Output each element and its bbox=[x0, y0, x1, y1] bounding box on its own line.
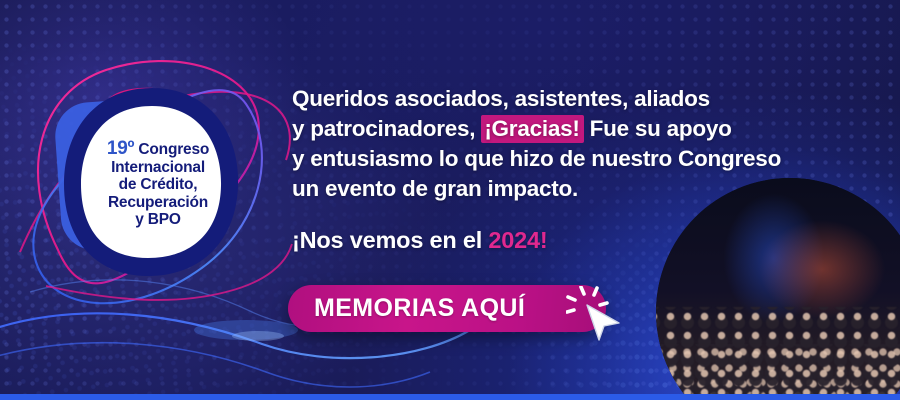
logo-text-block: 19º Congreso Internacional de Crédito, R… bbox=[92, 140, 224, 229]
message-line-2-before: y patrocinadores, bbox=[292, 116, 481, 141]
memorias-aqui-label: MEMORIAS AQUÍ bbox=[288, 294, 525, 323]
message-line-2: y patrocinadores, ¡Gracias! Fue su apoyo bbox=[292, 114, 867, 144]
audience-photo bbox=[656, 178, 900, 400]
congress-thankyou-banner: 19º Congreso Internacional de Crédito, R… bbox=[0, 0, 900, 400]
see-you-year: 2024! bbox=[488, 227, 547, 253]
logo-line-1: Congreso bbox=[138, 141, 209, 158]
bottom-accent-bar bbox=[0, 394, 900, 400]
message-line-2-after: Fue su apoyo bbox=[584, 116, 732, 141]
see-you-prefix: ¡Nos vemos en el bbox=[292, 227, 488, 253]
memorias-aqui-button[interactable]: MEMORIAS AQUÍ bbox=[288, 285, 606, 332]
message-line-3: y entusiasmo lo que hizo de nuestro Cong… bbox=[292, 144, 867, 174]
audience-photo-crowd-front bbox=[656, 307, 900, 400]
logo-line-2: Internacional bbox=[92, 159, 224, 177]
congress-logo: 19º Congreso Internacional de Crédito, R… bbox=[34, 62, 274, 332]
message-line-1: Queridos asociados, asistentes, aliados bbox=[292, 84, 867, 114]
logo-line-3: de Crédito, bbox=[92, 176, 224, 194]
logo-line-4: Recuperación bbox=[92, 194, 224, 212]
logo-line-5: y BPO bbox=[92, 211, 224, 229]
gracias-highlight: ¡Gracias! bbox=[481, 115, 583, 143]
see-you-next-year: ¡Nos vemos en el 2024! bbox=[292, 227, 548, 254]
logo-edition-number: 19º bbox=[107, 138, 134, 159]
